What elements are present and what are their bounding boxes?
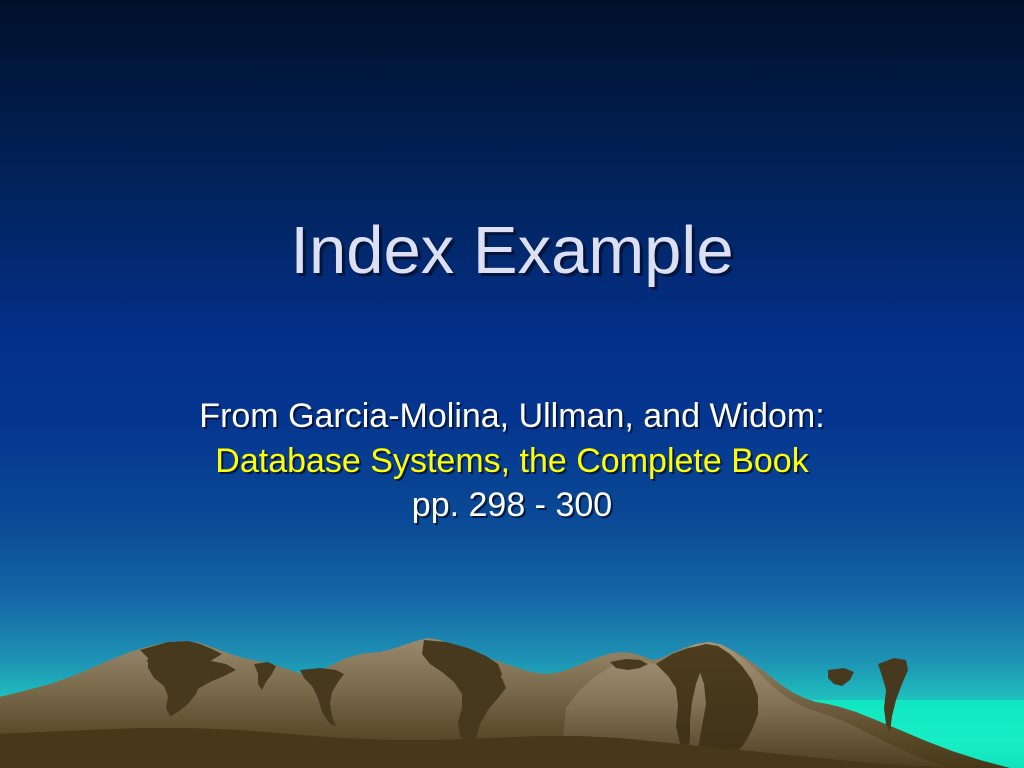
slide-subtitle: From Garcia-Molina, Ullman, and Widom: D… xyxy=(0,394,1024,528)
slide-text-layer: Index Example From Garcia-Molina, Ullman… xyxy=(0,0,1024,768)
slide-canvas: Index Example From Garcia-Molina, Ullman… xyxy=(0,0,1024,768)
subtitle-line-book-title: Database Systems, the Complete Book xyxy=(0,439,1024,484)
subtitle-line-pages: pp. 298 - 300 xyxy=(0,483,1024,528)
page-title: Index Example xyxy=(0,216,1024,286)
subtitle-line-authors: From Garcia-Molina, Ullman, and Widom: xyxy=(0,394,1024,439)
